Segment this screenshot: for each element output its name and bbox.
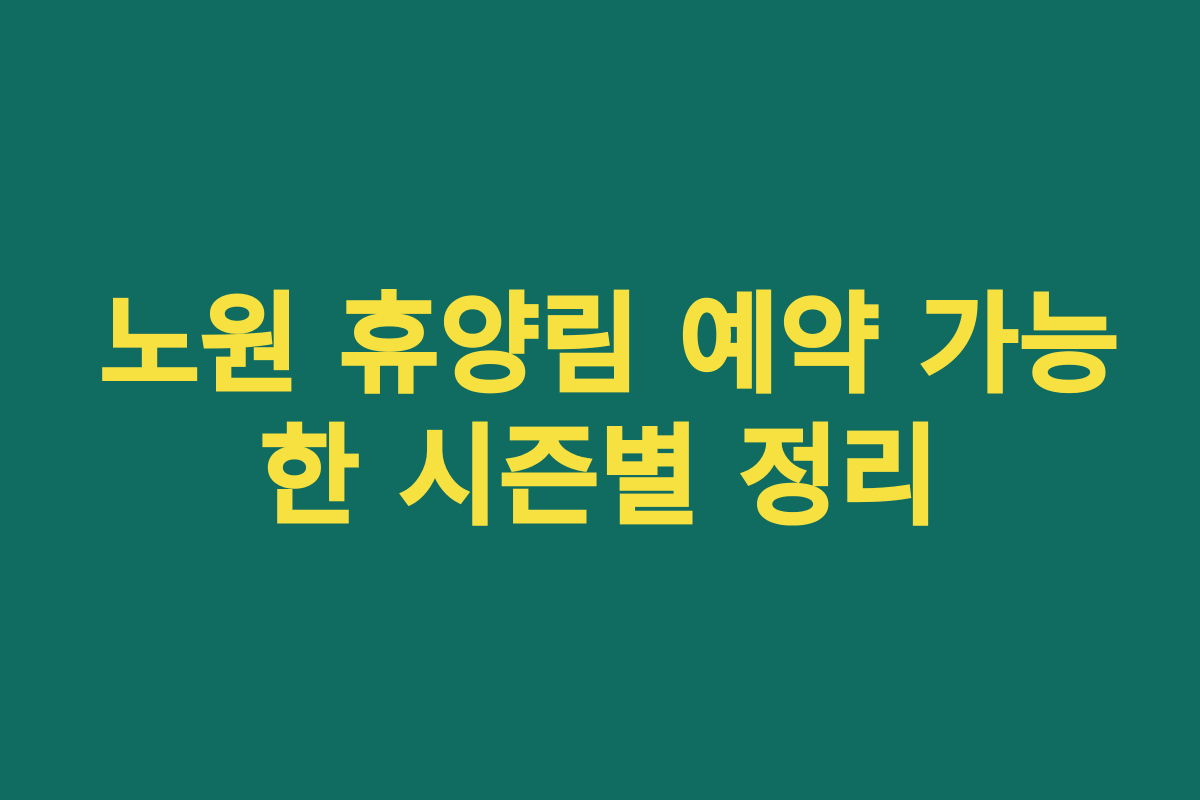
thumbnail-card: 노원 휴양림 예약 가능 한 시즌별 정리 xyxy=(0,0,1200,800)
headline-line-2: 한 시즌별 정리 xyxy=(100,412,1100,544)
headline-line-1: 노원 휴양림 예약 가능 xyxy=(100,280,1100,412)
headline-block: 노원 휴양림 예약 가능 한 시즌별 정리 xyxy=(100,280,1100,544)
